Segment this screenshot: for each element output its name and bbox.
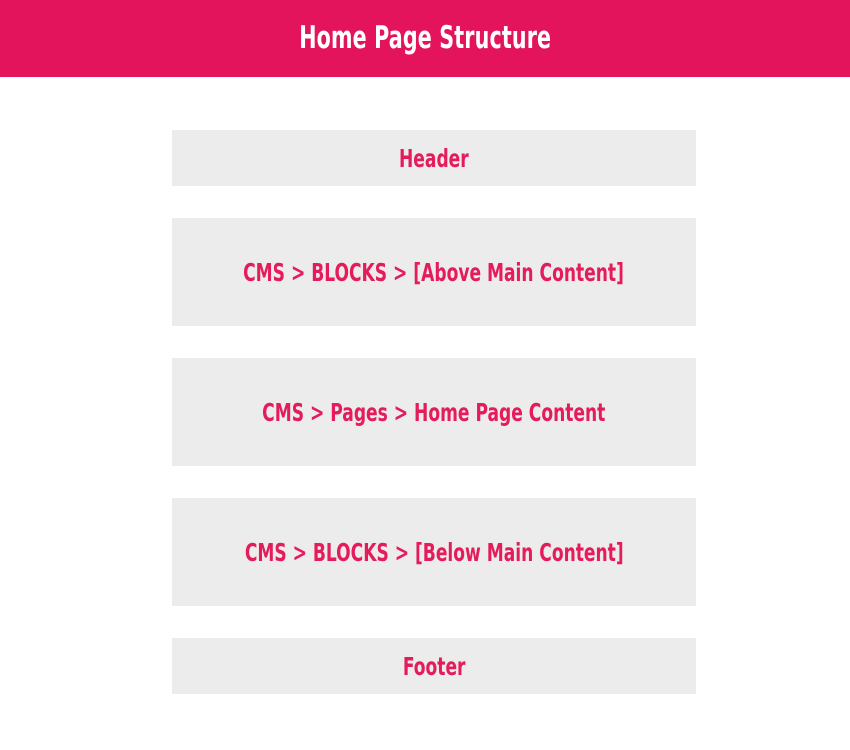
page-title: Home Page Structure (299, 23, 551, 54)
structure-block-above-main-content[interactable]: CMS > BLOCKS > [Above Main Content] (172, 218, 696, 326)
structure-block-footer[interactable]: Footer (172, 638, 696, 694)
structure-block-label: Header (399, 146, 469, 171)
structure-block-below-main-content[interactable]: CMS > BLOCKS > [Below Main Content] (172, 498, 696, 606)
structure-diagram: Header CMS > BLOCKS > [Above Main Conten… (172, 130, 696, 694)
page-banner: Home Page Structure (0, 0, 850, 77)
structure-block-label: CMS > Pages > Home Page Content (262, 400, 605, 425)
structure-block-label: CMS > BLOCKS > [Below Main Content] (245, 540, 624, 565)
structure-block-header[interactable]: Header (172, 130, 696, 186)
structure-block-label: CMS > BLOCKS > [Above Main Content] (244, 260, 625, 285)
structure-block-label: Footer (403, 654, 466, 679)
structure-block-main-content[interactable]: CMS > Pages > Home Page Content (172, 358, 696, 466)
page-root: Home Page Structure Header CMS > BLOCKS … (0, 0, 850, 750)
